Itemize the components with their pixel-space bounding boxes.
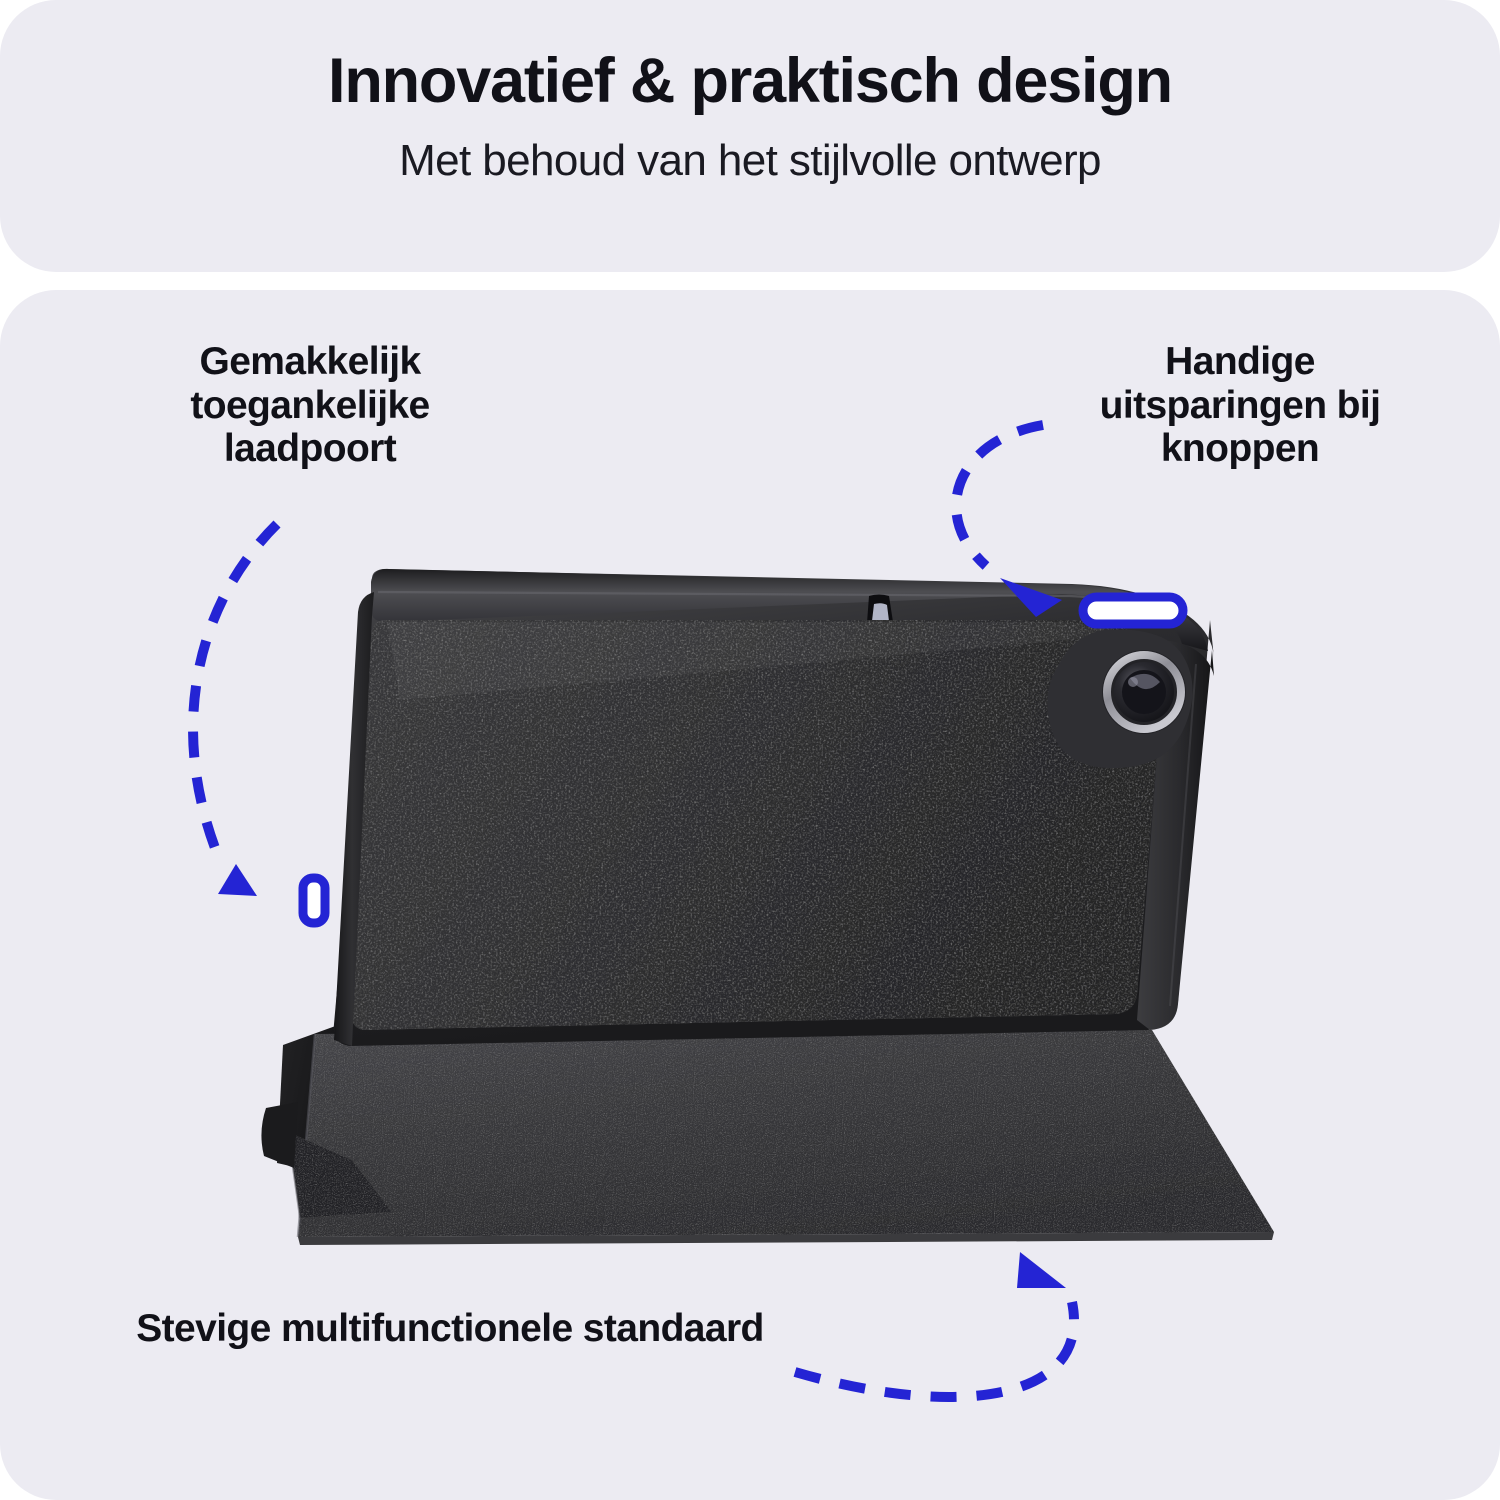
camera-module — [1047, 630, 1192, 769]
callout-stand: Stevige multifunctionele standaard — [120, 1307, 780, 1351]
infographic-stage: Innovatief & praktisch design Met behoud… — [0, 0, 1500, 1500]
case-back-leather — [352, 620, 1165, 1030]
charging-port-highlight — [303, 878, 325, 923]
button-cutout-highlight — [1083, 597, 1183, 624]
callout-charging-port: Gemakkelijk toegankelijke laadpoort — [120, 340, 500, 471]
stand-front-face — [298, 1030, 1274, 1245]
stand-left-tab — [261, 1102, 298, 1168]
product-illustration — [0, 0, 1500, 1500]
callout-button-cutouts: Handige uitsparingen bij knoppen — [1060, 340, 1420, 471]
